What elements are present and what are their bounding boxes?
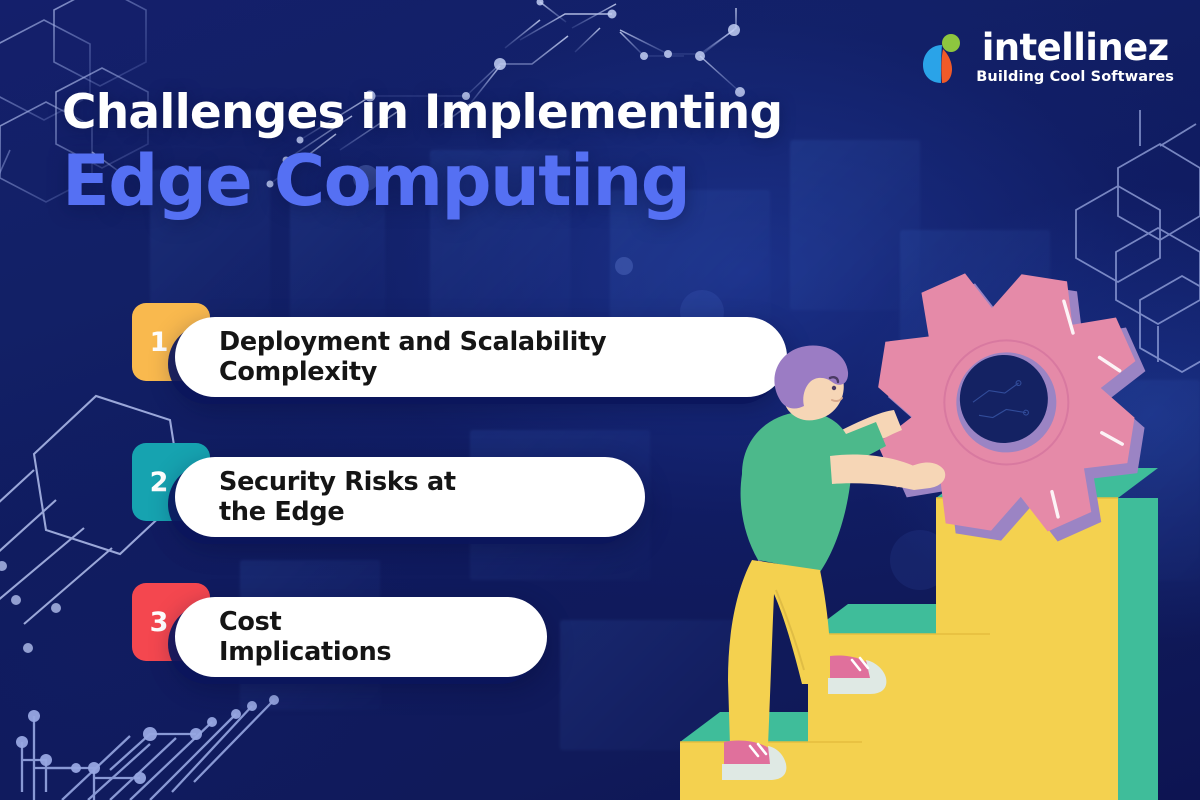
challenge-label: Cost Implications [219, 607, 391, 667]
brand-tagline: Building Cool Softwares [976, 69, 1174, 85]
brand-name: intellinez [982, 30, 1169, 66]
title-line-1: Challenges in Implementing [62, 88, 782, 138]
challenge-number: 1 [150, 327, 169, 358]
challenge-number: 2 [150, 467, 169, 498]
challenge-pill-3[interactable]: Cost Implications [175, 597, 547, 677]
infographic-canvas: intellinez Building Cool Softwares Chall… [0, 0, 1200, 800]
intellinez-logo-icon [921, 33, 967, 85]
hero-illustration [680, 260, 1200, 800]
challenge-number: 3 [150, 607, 169, 638]
title-line-2: Edge Computing [62, 144, 782, 218]
page-title: Challenges in Implementing Edge Computin… [62, 88, 782, 218]
challenge-label: Security Risks at the Edge [219, 467, 456, 527]
challenge-pill-2[interactable]: Security Risks at the Edge [175, 457, 645, 537]
challenge-label: Deployment and Scalability Complexity [219, 327, 606, 387]
brand-logo[interactable]: intellinez Building Cool Softwares [921, 30, 1174, 85]
